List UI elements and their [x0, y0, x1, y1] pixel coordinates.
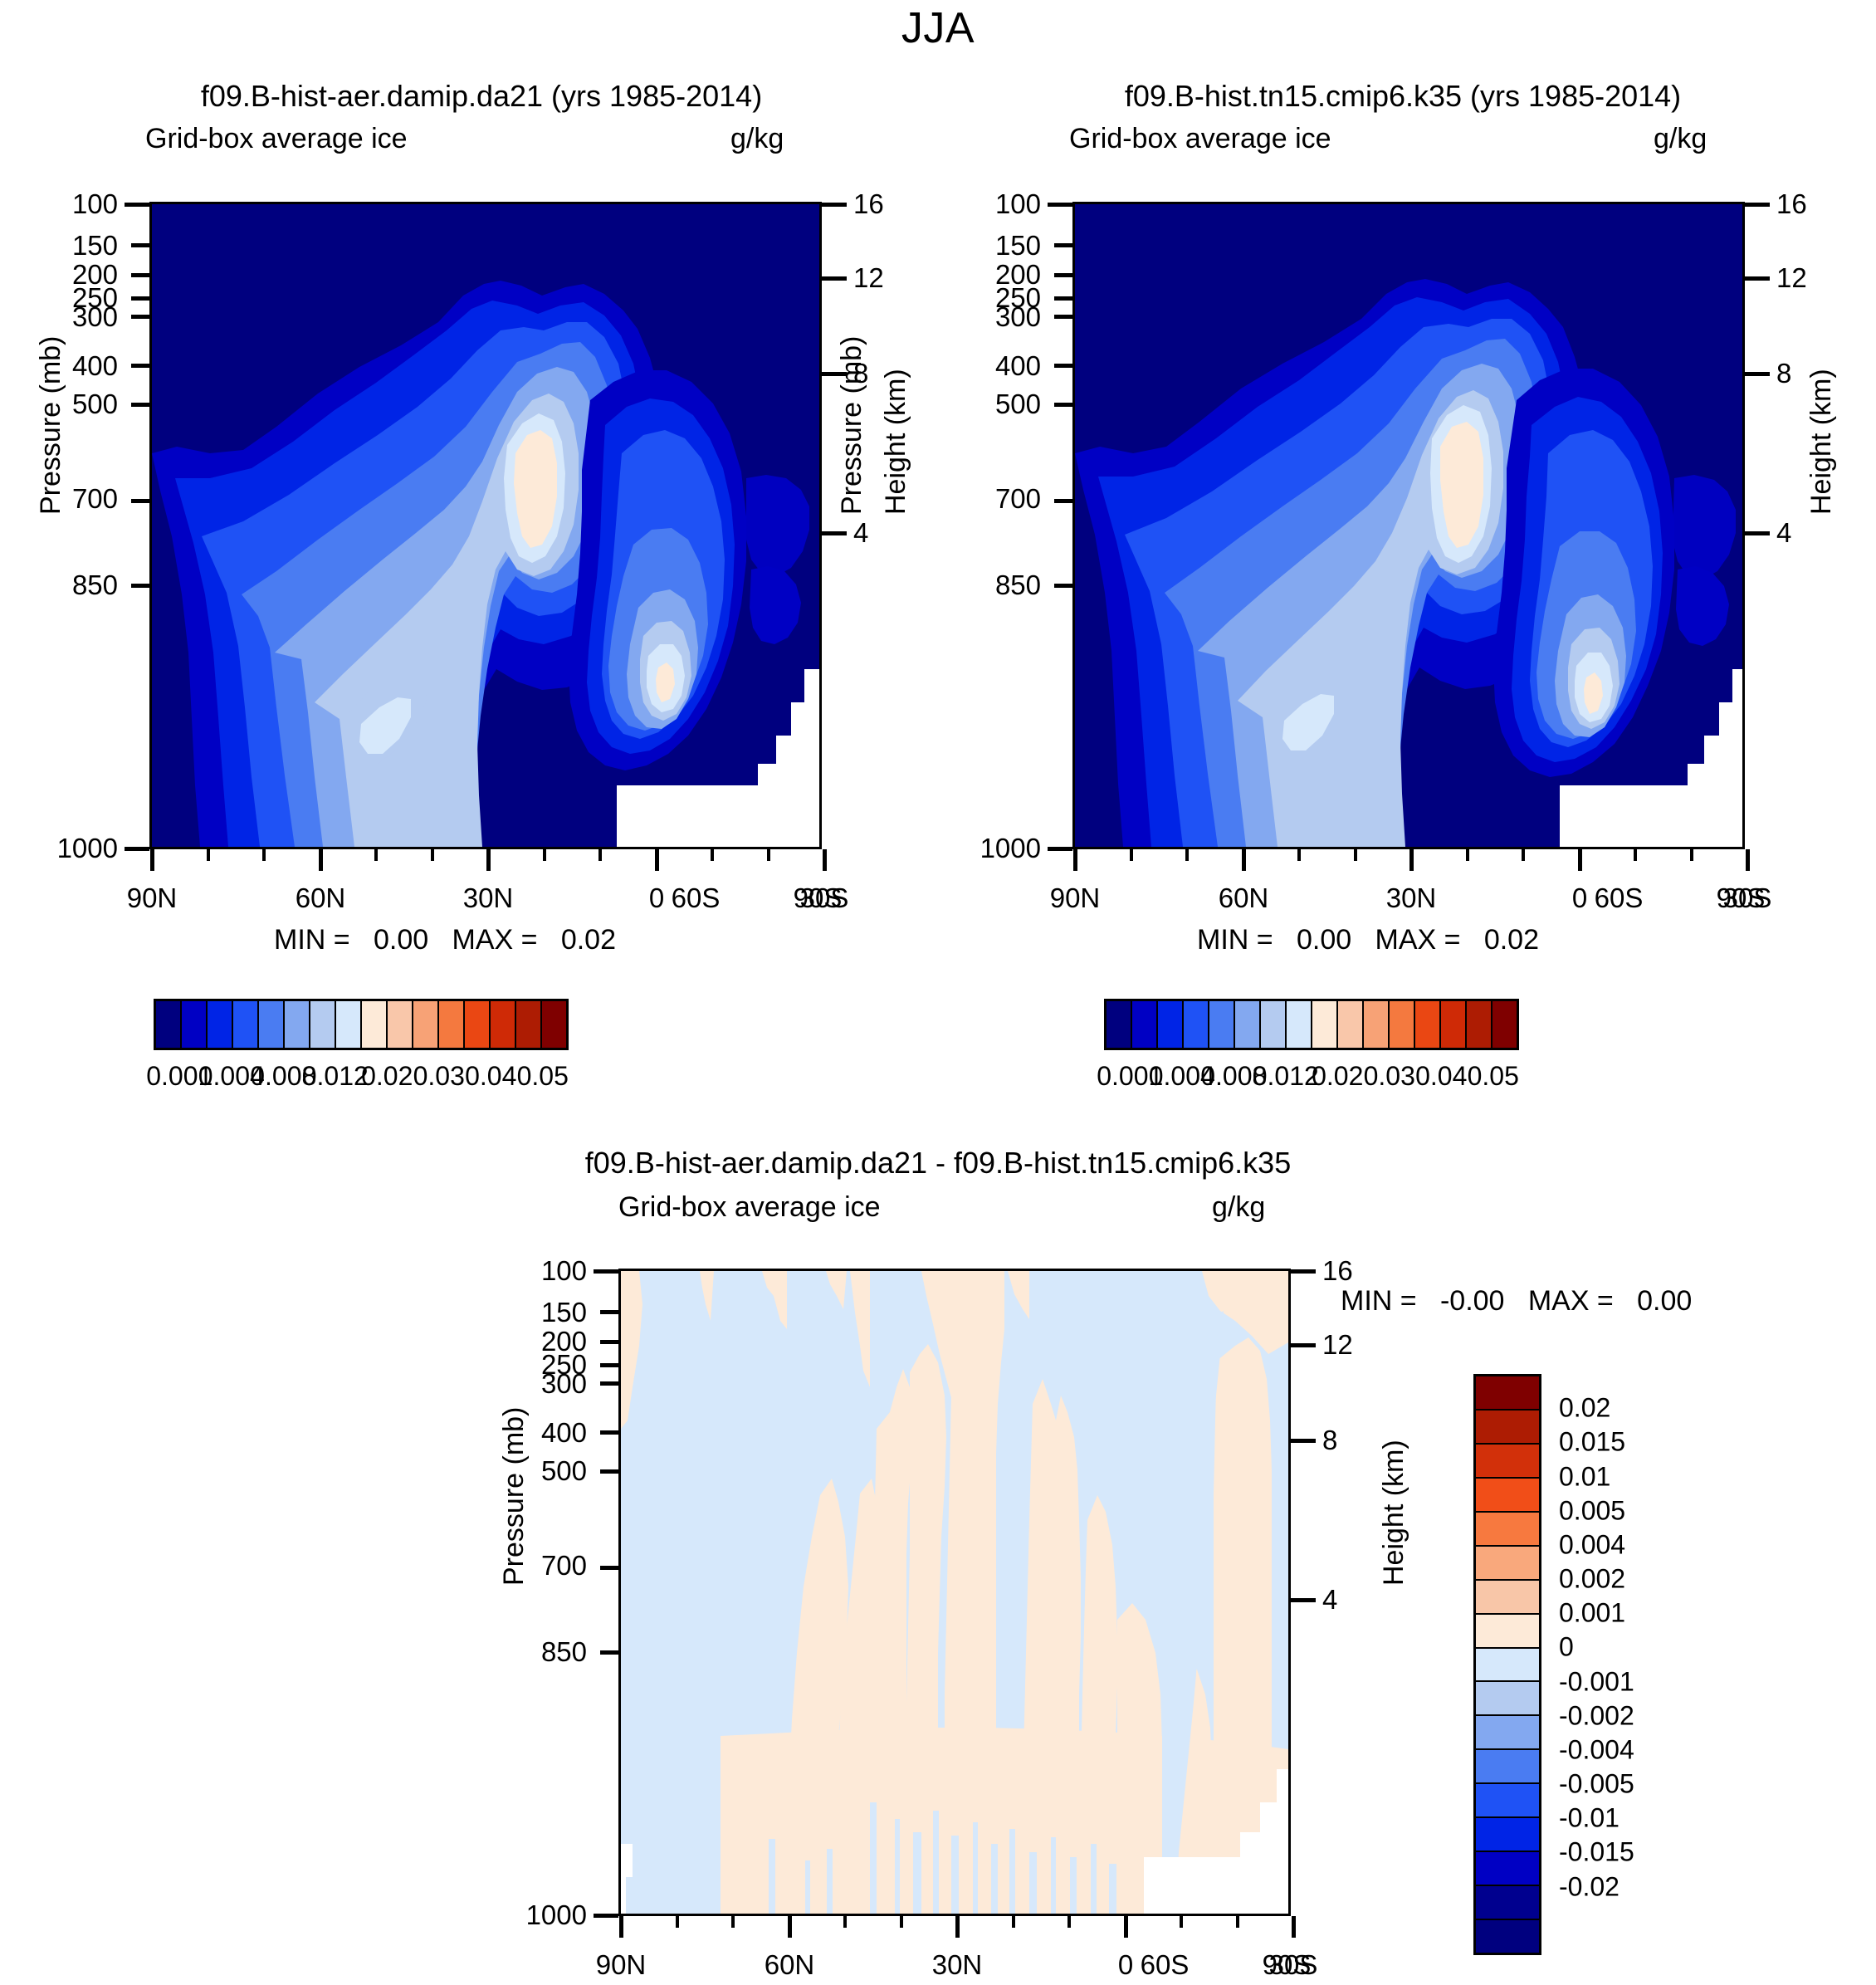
panel-diff-minmax: MIN = -0.00 MAX = 0.00 [1341, 1285, 1692, 1318]
colorbar-label-5: 0.03 [1364, 1061, 1415, 1092]
diff-colorbar-segment-16 [1476, 1920, 1539, 1953]
colorbar-segment-4 [259, 1001, 285, 1048]
panel-right-units-label: g/kg [1654, 123, 1707, 155]
colorbar-segment-7 [336, 1001, 362, 1048]
colorbar-segment-4 [1209, 1001, 1235, 1048]
panel-left-variable-label: Grid-box average ice [145, 123, 408, 155]
diff-colorbar-label-3: 0.005 [1559, 1495, 1625, 1526]
colorbar-segment-11 [1390, 1001, 1415, 1048]
panel-diff-colorbar[interactable] [1473, 1374, 1541, 1955]
colorbar-segment-12 [1415, 1001, 1441, 1048]
colorbar-label-6: 0.04 [1415, 1061, 1467, 1092]
panel-left-ylabel: Pressure (mb) [35, 336, 67, 515]
diff-colorbar-segment-9 [1476, 1682, 1539, 1716]
diff-colorbar-segment-10 [1476, 1716, 1539, 1750]
diff-colorbar-segment-11 [1476, 1750, 1539, 1784]
diff-colorbar-segment-1 [1476, 1411, 1539, 1445]
panel-left-colorbar-labels: 0.0010.0040.0080.0120.020.030.040.05 [154, 1061, 569, 1094]
panel-right-min-value: 0.00 [1297, 924, 1351, 956]
colorbar-segment-2 [208, 1001, 233, 1048]
panel-diff-units-label: g/kg [1212, 1191, 1265, 1224]
colorbar-segment-2 [1158, 1001, 1184, 1048]
diff-colorbar-label-14: -0.02 [1559, 1871, 1620, 1902]
panel-right-colorbar-labels: 0.0010.0040.0080.0120.020.030.040.05 [1104, 1061, 1519, 1094]
diff-colorbar-label-12: -0.01 [1559, 1803, 1620, 1834]
colorbar-segment-13 [1441, 1001, 1467, 1048]
diff-colorbar-label-9: -0.002 [1559, 1700, 1634, 1731]
diff-colorbar-segment-14 [1476, 1852, 1539, 1886]
panel-left-units-label: g/kg [730, 123, 784, 155]
colorbar-segment-13 [491, 1001, 516, 1048]
diff-colorbar-label-7: 0 [1559, 1632, 1574, 1663]
colorbar-segment-10 [1364, 1001, 1390, 1048]
lat-label-90s-diff: 90S [1263, 1949, 1312, 1981]
diff-colorbar-label-13: -0.015 [1559, 1837, 1634, 1868]
panel-left-min-label: MIN = [274, 924, 350, 956]
diff-colorbar-label-11: -0.005 [1559, 1769, 1634, 1800]
colorbar-segment-1 [1132, 1001, 1158, 1048]
diff-colorbar-segment-6 [1476, 1581, 1539, 1615]
panel-right-max-value: 0.02 [1484, 924, 1539, 956]
diff-colorbar-segment-8 [1476, 1649, 1539, 1683]
panel-left-minmax: MIN = 0.00 MAX = 0.02 [274, 924, 616, 956]
diff-colorbar-segment-0 [1476, 1376, 1539, 1411]
colorbar-segment-6 [310, 1001, 336, 1048]
colorbar-label-7: 0.05 [1468, 1061, 1519, 1092]
panel-diff-variable-label: Grid-box average ice [618, 1191, 881, 1224]
colorbar-segment-7 [1287, 1001, 1312, 1048]
diff-colorbar-segment-15 [1476, 1886, 1539, 1920]
diff-colorbar-segment-7 [1476, 1615, 1539, 1649]
panel-diff-title: f09.B-hist-aer.damip.da21 - f09.B-hist.t… [357, 1146, 1519, 1181]
panel-diff-min-value: -0.00 [1440, 1285, 1505, 1317]
colorbar-label-6: 0.04 [465, 1061, 516, 1092]
colorbar-segment-9 [388, 1001, 413, 1048]
panel-left-ylabel-right: Height (km) [880, 369, 912, 515]
colorbar-segment-12 [465, 1001, 491, 1048]
panel-diff-plot [618, 1269, 1291, 1916]
diff-colorbar-label-5: 0.002 [1559, 1564, 1625, 1595]
panel-right-minmax: MIN = 0.00 MAX = 0.02 [1197, 924, 1539, 956]
lat-label-60s-right: 60S [1595, 882, 1644, 914]
colorbar-segment-15 [1492, 1001, 1517, 1048]
colorbar-segment-11 [439, 1001, 465, 1048]
diff-colorbar-segment-12 [1476, 1784, 1539, 1818]
colorbar-segment-1 [182, 1001, 208, 1048]
panel-left-plot [149, 202, 822, 849]
colorbar-segment-9 [1338, 1001, 1364, 1048]
colorbar-segment-3 [233, 1001, 259, 1048]
colorbar-label-3: 0.012 [1253, 1061, 1319, 1092]
panel-left-title: f09.B-hist-aer.damip.da21 (yrs 1985-2014… [17, 79, 946, 114]
colorbar-segment-5 [1235, 1001, 1261, 1048]
panel-diff-max-label: MAX = [1528, 1285, 1614, 1317]
diff-colorbar-label-1: 0.015 [1559, 1427, 1625, 1458]
colorbar-segment-14 [1467, 1001, 1492, 1048]
lat-label-90s-right: 90S [1717, 882, 1766, 914]
panel-left-max-value: 0.02 [561, 924, 616, 956]
colorbar-segment-5 [285, 1001, 310, 1048]
diff-colorbar-segment-4 [1476, 1513, 1539, 1547]
colorbar-segment-14 [516, 1001, 542, 1048]
colorbar-label-7: 0.05 [517, 1061, 569, 1092]
panel-right-ylabel: Pressure (mb) [836, 336, 868, 515]
lat-label-60s-diff: 60S [1141, 1949, 1190, 1981]
panel-right-min-label: MIN = [1197, 924, 1273, 956]
panel-diff-max-value: 0.00 [1637, 1285, 1692, 1317]
colorbar-segment-0 [1107, 1001, 1132, 1048]
panel-right-title: f09.B-hist.tn15.cmip6.k35 (yrs 1985-2014… [938, 79, 1868, 114]
colorbar-label-3: 0.012 [302, 1061, 369, 1092]
colorbar-segment-8 [362, 1001, 388, 1048]
panel-right-plot [1072, 202, 1745, 849]
colorbar-label-5: 0.03 [413, 1061, 465, 1092]
panel-right-max-label: MAX = [1375, 924, 1461, 956]
diff-colorbar-label-10: -0.004 [1559, 1734, 1634, 1765]
colorbar-segment-8 [1312, 1001, 1338, 1048]
diff-colorbar-segment-13 [1476, 1818, 1539, 1852]
panel-diff-colorbar-labels: 0.020.0150.010.0050.0040.0020.0010-0.001… [1559, 1374, 1775, 1955]
panel-right-colorbar[interactable] [1104, 999, 1519, 1050]
diff-colorbar-label-8: -0.001 [1559, 1666, 1634, 1697]
lat-label-60s-left: 60S [672, 882, 721, 914]
colorbar-segment-15 [542, 1001, 566, 1048]
diff-colorbar-segment-5 [1476, 1547, 1539, 1581]
panel-diff-ylabel: Pressure (mb) [498, 1407, 530, 1586]
panel-left-colorbar[interactable] [154, 999, 569, 1050]
panel-left-min-value: 0.00 [374, 924, 428, 956]
colorbar-segment-0 [156, 1001, 182, 1048]
diff-colorbar-label-4: 0.004 [1559, 1529, 1625, 1560]
panel-diff-ylabel-right: Height (km) [1378, 1440, 1410, 1586]
figure-title: JJA [0, 3, 1876, 53]
colorbar-label-4: 0.02 [361, 1061, 413, 1092]
figure: JJA f09.B-hist-aer.damip.da21 (yrs 1985-… [0, 0, 1876, 1985]
panel-right-variable-label: Grid-box average ice [1069, 123, 1331, 155]
lat-label-90s-left: 90S [794, 882, 843, 914]
panel-left-max-label: MAX = [452, 924, 538, 956]
colorbar-segment-3 [1184, 1001, 1209, 1048]
diff-colorbar-segment-2 [1476, 1445, 1539, 1479]
diff-colorbar-segment-3 [1476, 1479, 1539, 1513]
colorbar-segment-10 [413, 1001, 439, 1048]
colorbar-label-4: 0.02 [1312, 1061, 1363, 1092]
diff-colorbar-label-0: 0.02 [1559, 1393, 1610, 1424]
diff-colorbar-label-6: 0.001 [1559, 1598, 1625, 1629]
panel-diff-min-label: MIN = [1341, 1285, 1417, 1317]
diff-colorbar-label-2: 0.01 [1559, 1461, 1610, 1492]
colorbar-segment-6 [1261, 1001, 1287, 1048]
panel-right-ylabel-right: Height (km) [1805, 369, 1838, 515]
